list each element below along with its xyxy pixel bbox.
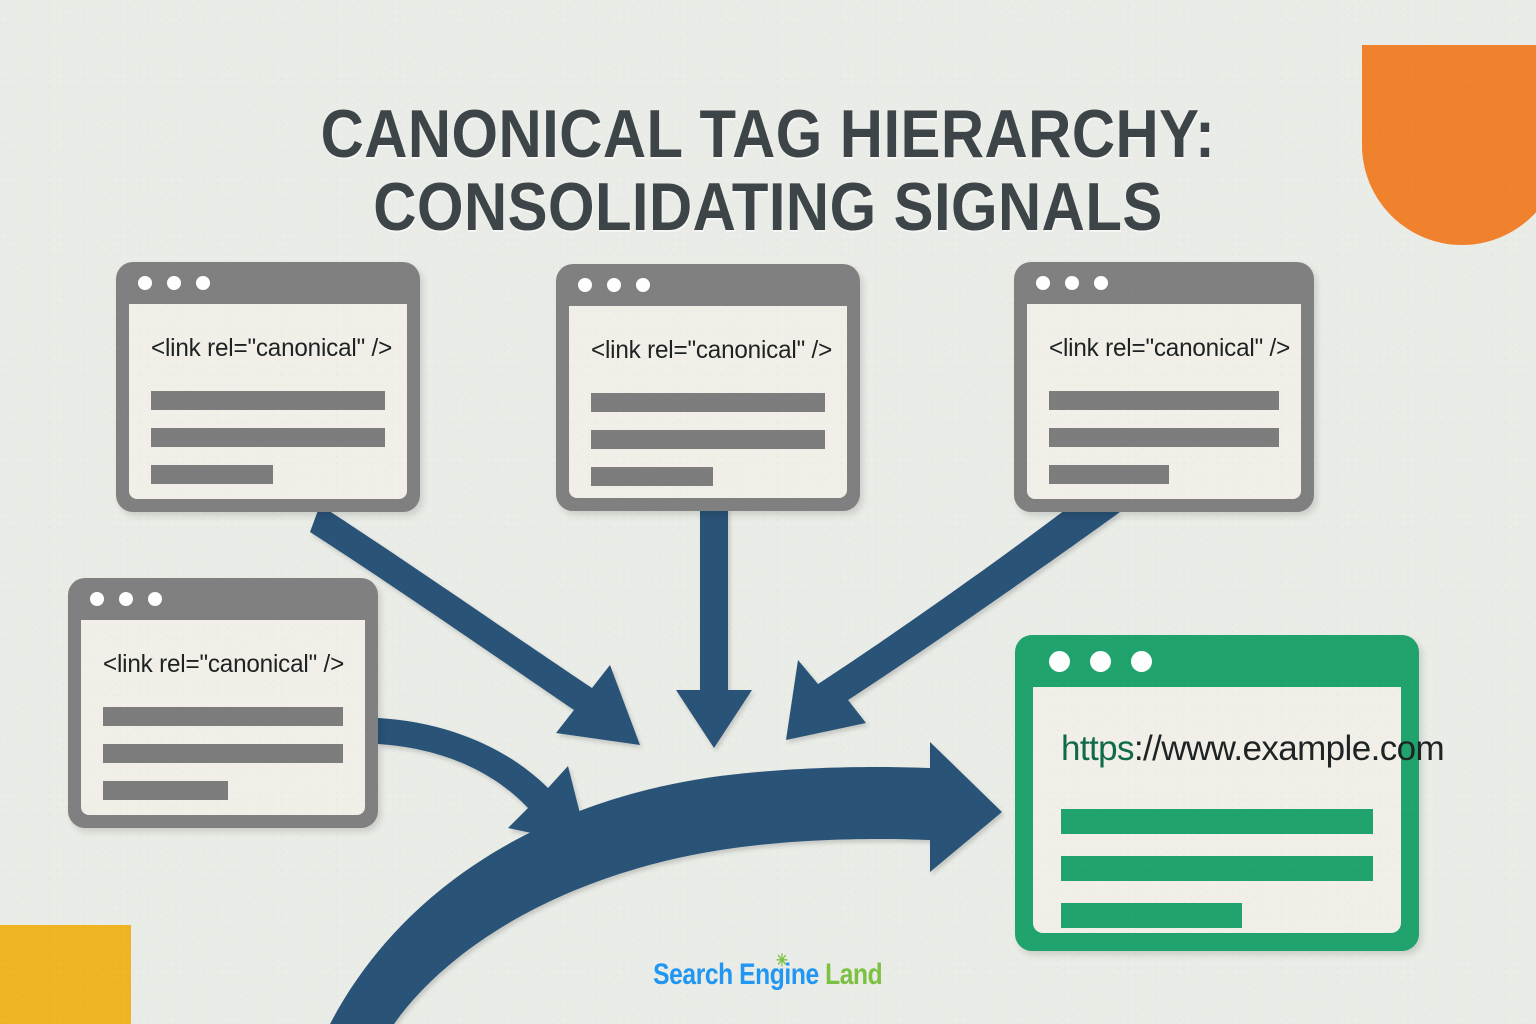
window-content: https://www.example.com <box>1033 687 1401 933</box>
content-placeholder-bars <box>103 707 343 800</box>
window-content: <link rel="canonical" /> <box>81 620 365 815</box>
window-titlebar <box>1014 262 1314 304</box>
content-bar <box>591 467 713 486</box>
content-bar <box>1049 465 1169 484</box>
window-titlebar <box>116 262 420 304</box>
content-bar <box>1049 391 1279 410</box>
content-placeholder-bars <box>591 393 825 486</box>
content-bar <box>1049 428 1279 447</box>
search-engine-land-logo[interactable]: Search Engine Land ✳ <box>0 958 1536 992</box>
window-dot-icon <box>1036 276 1050 290</box>
canonical-link-code: <link rel="canonical" /> <box>151 304 378 363</box>
content-bar <box>103 781 228 800</box>
content-placeholder-bars <box>1061 809 1373 928</box>
window-titlebar <box>1015 635 1419 687</box>
arrow-from-source-page-2 <box>676 508 752 748</box>
window-content: <link rel="canonical" /> <box>569 306 847 498</box>
window-dot-icon <box>607 278 621 292</box>
canonical-destination-window[interactable]: https://www.example.com <box>1015 635 1419 951</box>
content-bar <box>1061 903 1242 928</box>
title-line-1: CANONICAL TAG HIERARCHY: <box>92 98 1444 171</box>
title-line-2: CONSOLIDATING SIGNALS <box>92 171 1444 244</box>
content-bar <box>103 744 343 763</box>
source-page-window-4[interactable]: <link rel="canonical" /> <box>68 578 378 828</box>
content-bar <box>151 465 273 484</box>
canonical-link-code: <link rel="canonical" /> <box>103 620 336 679</box>
window-dot-icon <box>167 276 181 290</box>
window-dot-icon <box>119 592 133 606</box>
source-page-window-2[interactable]: <link rel="canonical" /> <box>556 264 860 511</box>
url-scheme: https <box>1061 729 1134 768</box>
source-page-window-3[interactable]: <link rel="canonical" /> <box>1014 262 1314 512</box>
content-bar <box>591 393 825 412</box>
source-page-window-1[interactable]: <link rel="canonical" /> <box>116 262 420 512</box>
window-dot-icon <box>138 276 152 290</box>
window-dot-icon <box>578 278 592 292</box>
window-dot-icon <box>1049 651 1070 672</box>
window-titlebar <box>68 578 378 620</box>
content-bar <box>103 707 343 726</box>
content-placeholder-bars <box>1049 391 1279 484</box>
canonical-link-code: <link rel="canonical" /> <box>591 306 818 365</box>
window-dot-icon <box>636 278 650 292</box>
window-dot-icon <box>1094 276 1108 290</box>
canonical-link-code: <link rel="canonical" /> <box>1049 304 1272 363</box>
window-dot-icon <box>148 592 162 606</box>
content-placeholder-bars <box>151 391 385 484</box>
canonical-url: https://www.example.com <box>1061 687 1373 769</box>
url-host: ://www.example.com <box>1134 729 1444 768</box>
logo-word-search: Search <box>653 958 733 991</box>
window-titlebar <box>556 264 860 306</box>
window-dot-icon <box>1065 276 1079 290</box>
window-dot-icon <box>1090 651 1111 672</box>
page-title: CANONICAL TAG HIERARCHY: CONSOLIDATING S… <box>0 98 1536 245</box>
green-star-icon: ✳ <box>776 952 787 969</box>
content-bar <box>151 391 385 410</box>
content-bar <box>591 430 825 449</box>
infographic-canvas: CANONICAL TAG HIERARCHY: CONSOLIDATING S… <box>0 0 1536 1024</box>
content-bar <box>1061 809 1373 834</box>
content-bar <box>151 428 385 447</box>
window-dot-icon <box>196 276 210 290</box>
window-content: <link rel="canonical" /> <box>129 304 407 499</box>
window-dot-icon <box>90 592 104 606</box>
content-bar <box>1061 856 1373 881</box>
window-content: <link rel="canonical" /> <box>1027 304 1301 499</box>
window-dot-icon <box>1131 651 1152 672</box>
logo-word-land: Land <box>825 958 882 991</box>
